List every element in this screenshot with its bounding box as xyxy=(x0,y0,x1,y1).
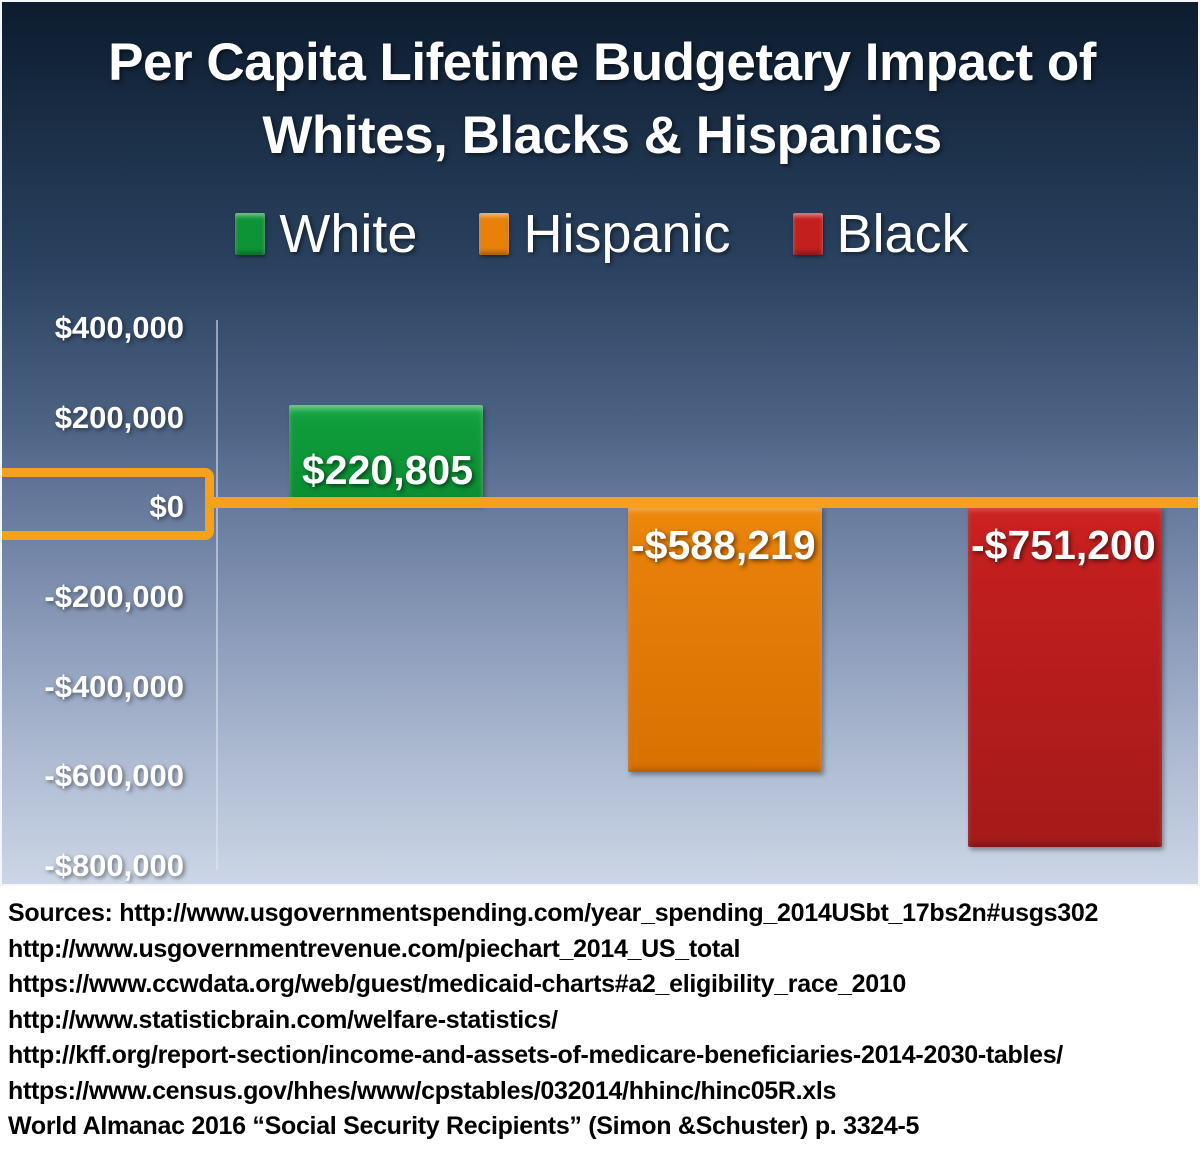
y-tick-label-neg800000: -$800,000 xyxy=(2,850,184,881)
chart-page: Per Capita Lifetime Budgetary Impact of … xyxy=(0,0,1200,1168)
y-tick-label-neg600000: -$600,000 xyxy=(2,760,184,791)
source-line: http://kff.org/report-section/income-and… xyxy=(8,1038,1192,1074)
source-line: http://www.usgovernmentrevenue.com/piech… xyxy=(8,932,1192,968)
zero-label-highlight-box xyxy=(0,468,214,540)
y-axis-line xyxy=(216,320,218,870)
bar-value-white: $220,805 xyxy=(302,450,473,491)
bar-value-black: -$751,200 xyxy=(971,525,1156,566)
source-line: https://www.census.gov/hhes/www/cpstable… xyxy=(8,1074,1192,1110)
y-tick-label-neg400000: -$400,000 xyxy=(2,671,184,702)
y-tick-label-neg200000: -$200,000 xyxy=(2,581,184,612)
source-line: http://www.statisticbrain.com/welfare-st… xyxy=(8,1003,1192,1039)
source-line: https://www.ccwdata.org/web/guest/medica… xyxy=(8,967,1192,1003)
y-tick-label-400000: $400,000 xyxy=(2,312,184,343)
plot-area: $400,000 $200,000 $0 -$200,000 -$400,000… xyxy=(2,2,1200,886)
source-line: World Almanac 2016 “Social Security Reci… xyxy=(8,1109,1192,1145)
source-line: Sources: http://www.usgovernmentspending… xyxy=(8,896,1192,932)
sources-section: Sources: http://www.usgovernmentspending… xyxy=(0,886,1200,1168)
y-tick-label-200000: $200,000 xyxy=(2,402,184,433)
chart-panel: Per Capita Lifetime Budgetary Impact of … xyxy=(0,0,1200,886)
zero-reference-line xyxy=(206,497,1200,508)
bar-value-hispanic: -$588,219 xyxy=(631,525,816,566)
